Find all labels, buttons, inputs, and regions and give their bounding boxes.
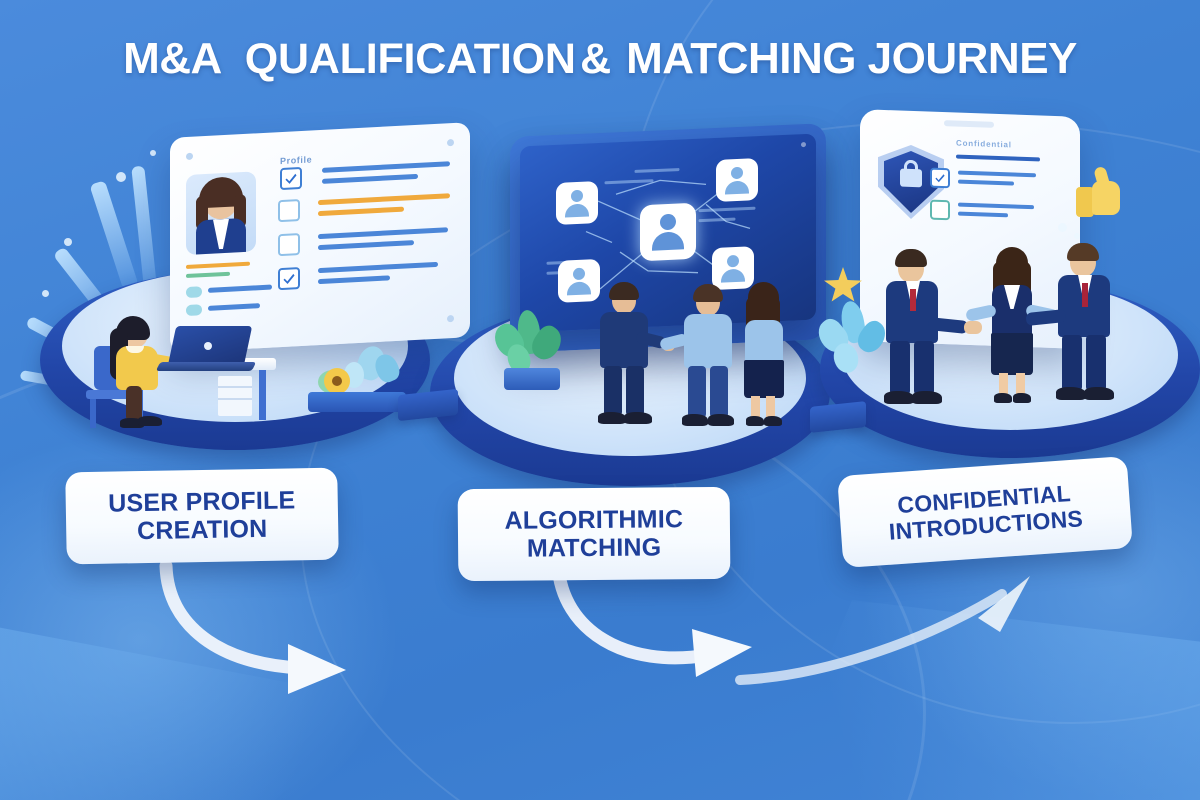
- flower-planter: [302, 342, 412, 418]
- matching-woman-skirt: [744, 360, 784, 398]
- profile-checkbox-3[interactable]: [278, 233, 300, 256]
- arrow-step1-to-step2: [150, 560, 470, 710]
- title-part-matching-journey: MATCHING JOURNEY: [626, 34, 1077, 83]
- sparkle-dot-2: [64, 238, 72, 246]
- infographic-canvas: M&A QUALIFICATION & MATCHING JOURNEY: [0, 0, 1200, 800]
- woman-shoe-2: [138, 416, 162, 426]
- matching-figure-man-shirt: [676, 282, 740, 428]
- man-shirt-leg-1: [688, 366, 706, 418]
- profile-line-l1: [186, 262, 250, 269]
- man-shirt-torso: [684, 314, 732, 368]
- matching-figure-woman: [732, 280, 792, 428]
- profile-toggle-1[interactable]: [186, 286, 202, 298]
- step-card-3-label: CONFIDENTIAL INTRODUCTIONS: [886, 479, 1083, 545]
- page-title: M&A QUALIFICATION & MATCHING JOURNEY: [0, 34, 1200, 84]
- confidential-panel-header-label: C‌o‌n‌f‌i‌d‌e‌n‌t‌i‌a‌l: [956, 139, 1012, 150]
- profile-toggle-2[interactable]: [186, 304, 202, 316]
- sparkle-dot-3: [42, 290, 49, 297]
- network-node-center[interactable]: [640, 203, 696, 261]
- man-right-tie: [1082, 283, 1088, 307]
- thumbs-up-sparkle: [1058, 223, 1067, 232]
- matching-woman-shoe-1: [746, 416, 764, 426]
- sparkle-dot-1: [116, 172, 126, 182]
- man-right-shoe-1: [1056, 387, 1086, 400]
- man-left-shoe-1: [884, 391, 914, 404]
- network-node-top-right[interactable]: [716, 158, 758, 202]
- intro-figure-man-left: [878, 247, 948, 407]
- man-right-leg-1: [1062, 335, 1082, 391]
- sparkle-dot-5: [150, 150, 156, 156]
- confidential-line-4: [958, 203, 1034, 210]
- title-part-qualification: QUALIFICATION: [245, 35, 576, 83]
- profile-checkbox-2[interactable]: [278, 199, 300, 222]
- matching-woman-torso: [745, 320, 783, 364]
- intro-woman-shoe-1: [994, 393, 1012, 403]
- confidential-checkbox-2[interactable]: [930, 200, 950, 221]
- man-suit-hair: [609, 282, 639, 300]
- profile-photo: [186, 171, 256, 255]
- bg-wedge-bottom-right: [760, 600, 1200, 800]
- man-shirt-leg-2: [710, 366, 728, 418]
- man-shirt-shoe-1: [682, 414, 708, 426]
- step-card-1[interactable]: USER PROFILE CREATION: [65, 468, 339, 565]
- man-right-leg-2: [1086, 335, 1106, 391]
- man-right-hair: [1067, 243, 1099, 261]
- confidential-line-2: [958, 171, 1036, 178]
- profile-line-r8: [318, 275, 390, 284]
- step-3-stage: C‌o‌n‌f‌i‌d‌e‌n‌t‌i‌a‌l: [790, 105, 1200, 495]
- profile-line-l4: [208, 303, 260, 311]
- profile-card-header-label: P‌r‌o‌f‌i‌l‌e: [280, 154, 312, 166]
- profile-line-l3: [208, 285, 272, 293]
- intro-woman-shoe-2: [1013, 393, 1031, 403]
- man-left-leg-2: [914, 341, 934, 395]
- intro-figure-man-right: [1048, 241, 1120, 405]
- matching-figure-man-suit: [590, 280, 656, 428]
- profile-checkbox-4[interactable]: [278, 267, 300, 290]
- man-left-shoe-2: [912, 391, 942, 404]
- matching-woman-shoe-2: [764, 416, 782, 426]
- man-shirt-hair: [693, 284, 723, 302]
- confidential-checkbox-1[interactable]: [930, 168, 950, 189]
- profile-line-l2: [186, 272, 230, 278]
- intro-woman-skirt: [991, 333, 1033, 375]
- profile-line-r4: [318, 207, 404, 217]
- bg-wedge-bottom-left: [0, 620, 380, 800]
- title-part-ma: M&A: [123, 34, 222, 83]
- step-card-2[interactable]: ALGORITHMIC MATCHING: [458, 487, 731, 581]
- potted-plant: [488, 310, 578, 396]
- confidential-line-1: [956, 155, 1040, 162]
- thumbs-up-sparkle-2: [1074, 233, 1080, 239]
- network-node-top-left[interactable]: [556, 181, 598, 225]
- man-left-hair: [895, 249, 927, 267]
- step-1-stage: P‌r‌o‌f‌i‌l‌e: [20, 120, 450, 500]
- profile-checkbox-1[interactable]: [280, 167, 302, 190]
- sparkle-ray-1: [89, 180, 138, 290]
- man-left-leg-1: [890, 341, 910, 395]
- confidential-line-3: [958, 180, 1014, 186]
- step-card-3[interactable]: CONFIDENTIAL INTRODUCTIONS: [837, 456, 1133, 568]
- step-card-1-label: USER PROFILE CREATION: [108, 486, 296, 546]
- man-suit-shoe-2: [624, 412, 652, 424]
- title-ampersand: &: [580, 35, 611, 83]
- man-suit-leg-1: [604, 366, 622, 416]
- man-suit-leg-2: [626, 366, 644, 416]
- man-shirt-shoe-2: [708, 414, 734, 426]
- thumbs-up-icon: [1072, 167, 1120, 219]
- man-right-shoe-2: [1084, 387, 1114, 400]
- panel-corner-dot-tl: [186, 153, 193, 160]
- star-icon: [824, 267, 862, 303]
- laptop: [160, 326, 256, 372]
- man-left-tie: [910, 289, 916, 311]
- arrow-step3-onward: [730, 560, 1070, 710]
- man-suit-shoe-1: [598, 412, 626, 424]
- intro-figure-woman-center: [980, 245, 1044, 407]
- confidential-line-5: [958, 212, 1008, 218]
- step-card-2-label: ALGORITHMIC MATCHING: [504, 505, 683, 564]
